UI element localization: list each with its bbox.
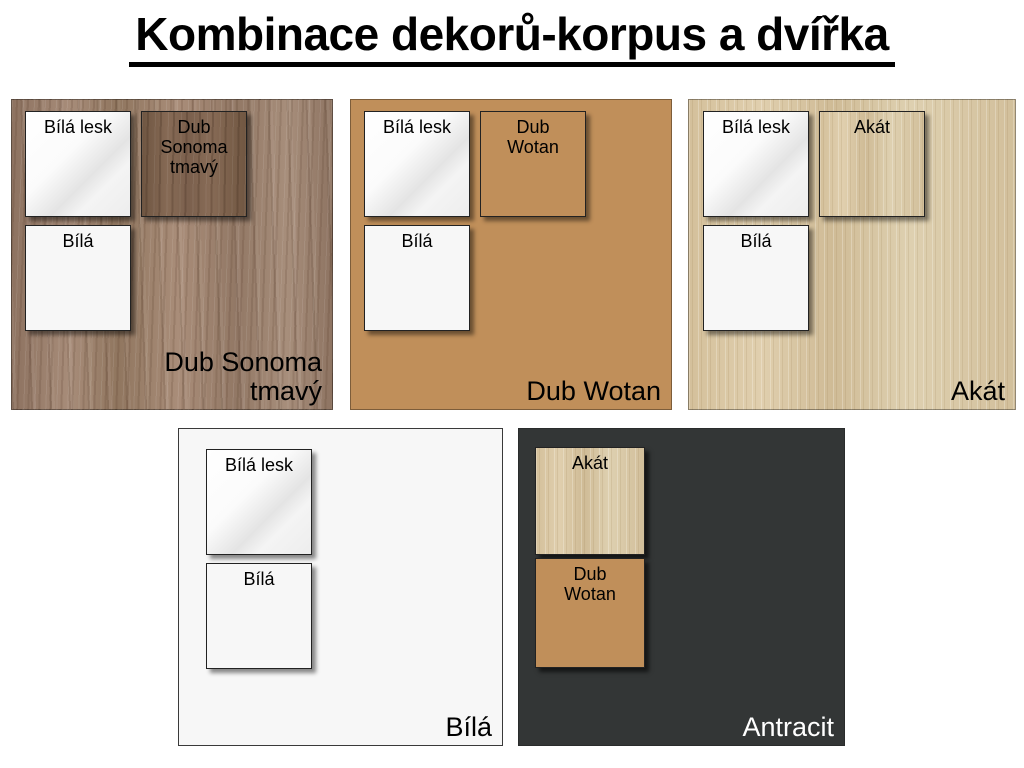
swatch-label: Bílá: [365, 231, 469, 251]
panel-caption: Dub Wotan: [526, 377, 661, 405]
panel-caption: Bílá: [445, 713, 492, 741]
swatch-akat[interactable]: Akát: [535, 447, 645, 555]
swatch-label: Bílá lesk: [207, 455, 311, 475]
swatch-bila-lesk[interactable]: Bílá lesk: [364, 111, 470, 217]
panel-bila[interactable]: Bílá lesk Bílá Bílá: [178, 428, 503, 746]
panel-antracit[interactable]: Akát Dub Wotan Antracit: [518, 428, 845, 746]
swatch-bila[interactable]: Bílá: [25, 225, 131, 331]
panel-caption: Akát: [951, 377, 1005, 405]
swatch-label: Bílá: [207, 569, 311, 589]
swatch-label: Bílá lesk: [704, 117, 808, 137]
page-title: Kombinace dekorů-korpus a dvířka: [0, 10, 1024, 67]
swatch-dub-wotan[interactable]: Dub Wotan: [535, 558, 645, 668]
swatch-label: Dub Sonoma tmavý: [142, 117, 246, 177]
swatch-label: Akát: [820, 117, 924, 137]
swatch-label: Bílá: [704, 231, 808, 251]
swatch-bila-lesk[interactable]: Bílá lesk: [703, 111, 809, 217]
swatch-bila[interactable]: Bílá: [206, 563, 312, 669]
swatch-label: Dub Wotan: [536, 564, 644, 604]
swatch-dub-wotan[interactable]: Dub Wotan: [480, 111, 586, 217]
swatch-bila-lesk[interactable]: Bílá lesk: [206, 449, 312, 555]
swatch-akat[interactable]: Akát: [819, 111, 925, 217]
panel-caption: Antracit: [742, 713, 834, 741]
swatch-bila[interactable]: Bílá: [364, 225, 470, 331]
swatch-label: Akát: [536, 453, 644, 473]
panel-dub-wotan[interactable]: Bílá lesk Dub Wotan Bílá Dub Wotan: [350, 99, 672, 410]
slide-canvas: Kombinace dekorů-korpus a dvířka Bílá le…: [0, 0, 1024, 768]
swatch-bila-lesk[interactable]: Bílá lesk: [25, 111, 131, 217]
swatch-label: Bílá lesk: [26, 117, 130, 137]
panel-caption: Dub Sonoma tmavý: [164, 348, 322, 405]
swatch-bila[interactable]: Bílá: [703, 225, 809, 331]
swatch-label: Bílá lesk: [365, 117, 469, 137]
swatch-dub-sonoma-tmavy[interactable]: Dub Sonoma tmavý: [141, 111, 247, 217]
panel-dub-sonoma-tmavy[interactable]: Bílá lesk Dub Sonoma tmavý Bílá Dub Sono…: [11, 99, 333, 410]
page-title-text: Kombinace dekorů-korpus a dvířka: [129, 10, 894, 67]
panel-akat[interactable]: Bílá lesk Akát Bílá Akát: [688, 99, 1016, 410]
swatch-label: Dub Wotan: [481, 117, 585, 157]
swatch-label: Bílá: [26, 231, 130, 251]
